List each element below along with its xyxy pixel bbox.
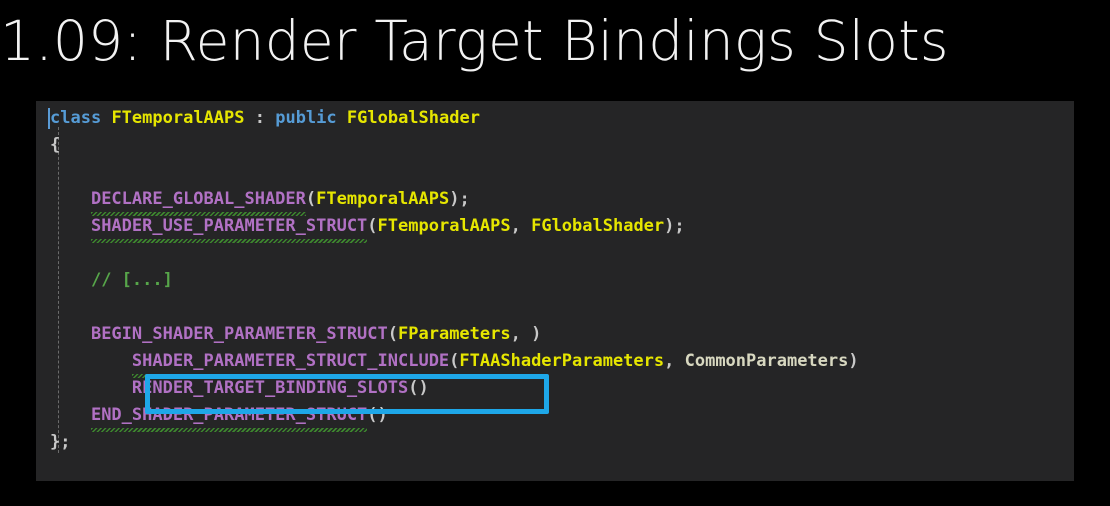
code-token: SHADER_USE_PARAMETER_STRUCT (91, 213, 367, 240)
code-line (36, 294, 1074, 321)
code-token: { (50, 135, 60, 155)
code-token: FGlobalShader (347, 108, 480, 128)
code-line (36, 240, 1074, 267)
code-line: DECLARE_GLOBAL_SHADER(FTemporalAAPS); (36, 186, 1074, 213)
code-token: FTemporalAAPS (378, 216, 511, 236)
code-token (50, 405, 91, 425)
code-token: , (511, 216, 531, 236)
code-line: }; (36, 429, 1074, 456)
code-token: ( (388, 324, 398, 344)
code-token: ( (367, 216, 377, 236)
code-token: DECLARE_GLOBAL_SHADER (91, 186, 306, 213)
code-token: ) (848, 351, 858, 371)
code-line: class FTemporalAAPS : public FGlobalShad… (36, 105, 1074, 132)
code-token: }; (50, 432, 70, 452)
code-token (337, 108, 347, 128)
code-token: FGlobalShader (531, 216, 664, 236)
code-line: // [...] (36, 267, 1074, 294)
code-lines: class FTemporalAAPS : public FGlobalShad… (36, 105, 1074, 456)
code-token (50, 324, 91, 344)
code-token (50, 378, 132, 398)
code-token: ( (306, 189, 316, 209)
code-line: SHADER_PARAMETER_STRUCT_INCLUDE(FTAAShad… (36, 348, 1074, 375)
code-token: ); (664, 216, 684, 236)
code-token: RENDER_TARGET_BINDING_SLOTS (132, 378, 408, 398)
code-line: RENDER_TARGET_BINDING_SLOTS() (36, 375, 1074, 402)
code-line: END_SHADER_PARAMETER_STRUCT() (36, 402, 1074, 429)
code-token: FParameters (398, 324, 511, 344)
code-token: FTemporalAAPS (316, 189, 449, 209)
presentation-slide: 1.09: Render Target Bindings Slots class… (0, 0, 1110, 506)
code-token: class (50, 108, 101, 128)
code-token (50, 216, 91, 236)
code-token: public (275, 108, 336, 128)
code-token: CommonParameters (685, 351, 849, 371)
code-token: SHADER_PARAMETER_STRUCT_INCLUDE (132, 348, 449, 375)
code-token: , ) (511, 324, 542, 344)
code-line: SHADER_USE_PARAMETER_STRUCT(FTemporalAAP… (36, 213, 1074, 240)
code-token (50, 189, 91, 209)
code-token: , (664, 351, 684, 371)
code-token: FTAAShaderParameters (459, 351, 664, 371)
code-token: // [...] (91, 270, 173, 290)
code-block[interactable]: class FTemporalAAPS : public FGlobalShad… (36, 101, 1074, 481)
code-line: { (36, 132, 1074, 159)
code-token (101, 108, 111, 128)
code-token (50, 270, 91, 290)
code-line: BEGIN_SHADER_PARAMETER_STRUCT(FParameter… (36, 321, 1074, 348)
code-token: ( (449, 351, 459, 371)
code-token: ); (449, 189, 469, 209)
code-token: : (245, 108, 276, 128)
code-token: BEGIN_SHADER_PARAMETER_STRUCT (91, 324, 388, 344)
code-line (36, 159, 1074, 186)
code-token: () (408, 378, 428, 398)
page-title: 1.09: Render Target Bindings Slots (0, 0, 1110, 84)
code-token: () (367, 405, 387, 425)
code-token: END_SHADER_PARAMETER_STRUCT (91, 402, 367, 429)
code-token: FTemporalAAPS (111, 108, 244, 128)
code-token (50, 351, 132, 371)
